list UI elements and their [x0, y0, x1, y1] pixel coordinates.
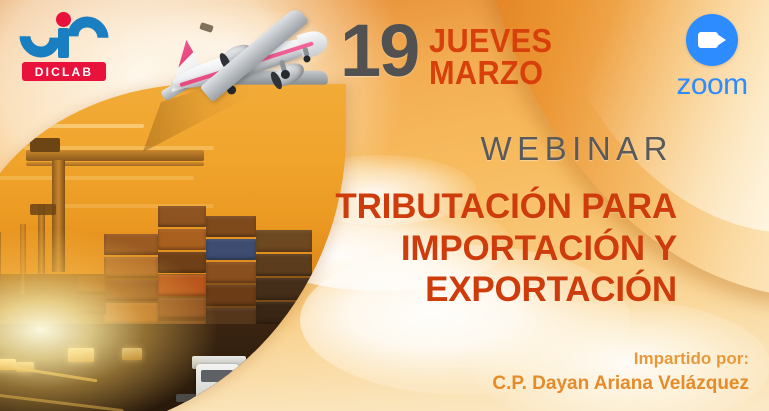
- speaker-prefix: Impartido por:: [492, 347, 749, 370]
- event-title: TRIBUTACIÓN PARA IMPORTACIÓN Y EXPORTACI…: [177, 186, 677, 311]
- speaker-credit: Impartido por: C.P. Dayan Ariana Velázqu…: [492, 347, 749, 397]
- zoom-wordmark: zoom: [668, 70, 756, 100]
- diclab-wordmark-banner: DICLAB: [22, 62, 106, 81]
- diclab-wordmark-text: DICLAB: [35, 66, 94, 78]
- video-camera-icon: [686, 14, 738, 66]
- logo-red-dot-icon: [56, 12, 71, 27]
- diclab-logo[interactable]: DICLAB: [18, 12, 110, 84]
- event-title-line: EXPORTACIÓN: [177, 269, 677, 311]
- event-title-line: TRIBUTACIÓN PARA: [177, 186, 677, 228]
- webinar-kicker: WEBINAR: [480, 130, 673, 168]
- crane-cabin: [30, 138, 60, 152]
- event-weekday: JUEVES: [429, 25, 552, 57]
- speaker-name: C.P. Dayan Ariana Velázquez: [492, 371, 749, 397]
- webinar-flyer: DICLAB 19 JUEVES MARZO zoom WEBINAR TRIB…: [0, 0, 769, 411]
- diclab-logo-mark: [18, 12, 110, 60]
- event-day-number: 19: [340, 18, 418, 83]
- event-title-line: IMPORTACIÓN Y: [177, 228, 677, 270]
- zoom-logo[interactable]: zoom: [668, 14, 756, 92]
- event-month: MARZO: [429, 57, 552, 89]
- event-date: 19 JUEVES MARZO: [340, 18, 562, 90]
